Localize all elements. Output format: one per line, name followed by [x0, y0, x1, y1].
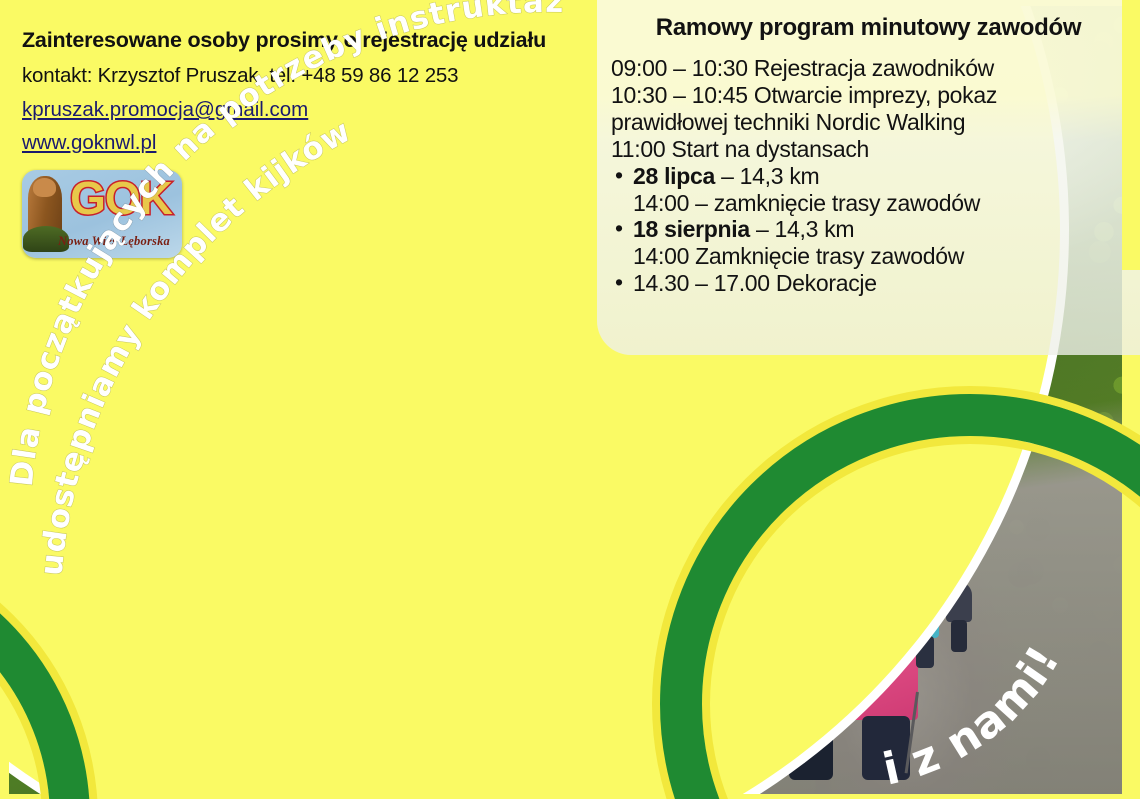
schedule-item: • 14.30 – 17.00 Dekoracje — [611, 270, 1126, 297]
schedule-item-sub: 14:00 Zamknięcie trasy zawodów — [611, 243, 1126, 270]
schedule-item-sub: 14:00 – zamknięcie trasy zawodów — [611, 190, 1126, 217]
schedule-item-sub-text: 14:00 – zamknięcie trasy zawodów — [633, 190, 980, 216]
schedule-line-3: 11:00 Start na dystansach — [611, 136, 1126, 163]
schedule-panel: Ramowy program minutowy zawodów 09:00 – … — [597, 0, 1140, 355]
schedule-items-list: • 28 lipca – 14,3 km 14:00 – zamknięcie … — [611, 163, 1126, 298]
schedule-item-sub-text: 14:00 Zamknięcie trasy zawodów — [633, 243, 964, 269]
schedule-line-1: 10:30 – 10:45 Otwarcie imprezy, pokaz — [611, 82, 1126, 109]
yellow-right-strip-top — [1122, 0, 1140, 270]
contact-phone-line: kontakt: Krzysztof Pruszak, tel. +48 59 … — [22, 64, 582, 88]
bullet-icon: • — [615, 215, 623, 242]
schedule-line-0: 09:00 – 10:30 Rejestracja zawodników — [611, 55, 1126, 82]
schedule-item-detail: – 14,3 km — [715, 163, 819, 189]
registration-headline: Zainteresowane osoby prosimy o rejestrac… — [22, 28, 582, 53]
schedule-item-date: 18 sierpnia — [633, 216, 750, 242]
schedule-item-detail: – 14,3 km — [750, 216, 854, 242]
contact-block: Zainteresowane osoby prosimy o rejestrac… — [22, 28, 582, 164]
poster: 442 478 479 — [0, 0, 1140, 799]
website-link[interactable]: www.goknwl.pl — [22, 131, 156, 155]
schedule-title: Ramowy program minutowy zawodów — [611, 14, 1126, 42]
schedule-item-detail: 14.30 – 17.00 Dekoracje — [633, 270, 877, 296]
bullet-icon: • — [615, 269, 623, 296]
gok-logo-text: GOK — [62, 175, 180, 221]
gok-logo-subtitle: Nowa Wieś Lęborska — [48, 234, 180, 249]
bullet-icon: • — [615, 162, 623, 189]
schedule-item-date: 28 lipca — [633, 163, 715, 189]
contact-email-link[interactable]: kpruszak.promocja@gmail.com — [22, 98, 308, 122]
schedule-item: • 18 sierpnia – 14,3 km — [611, 216, 1126, 243]
schedule-line-2: prawidłowej techniki Nordic Walking — [611, 109, 1126, 136]
schedule-item: • 28 lipca – 14,3 km — [611, 163, 1126, 190]
gok-logo[interactable]: GOK Nowa Wieś Lęborska — [22, 170, 182, 258]
